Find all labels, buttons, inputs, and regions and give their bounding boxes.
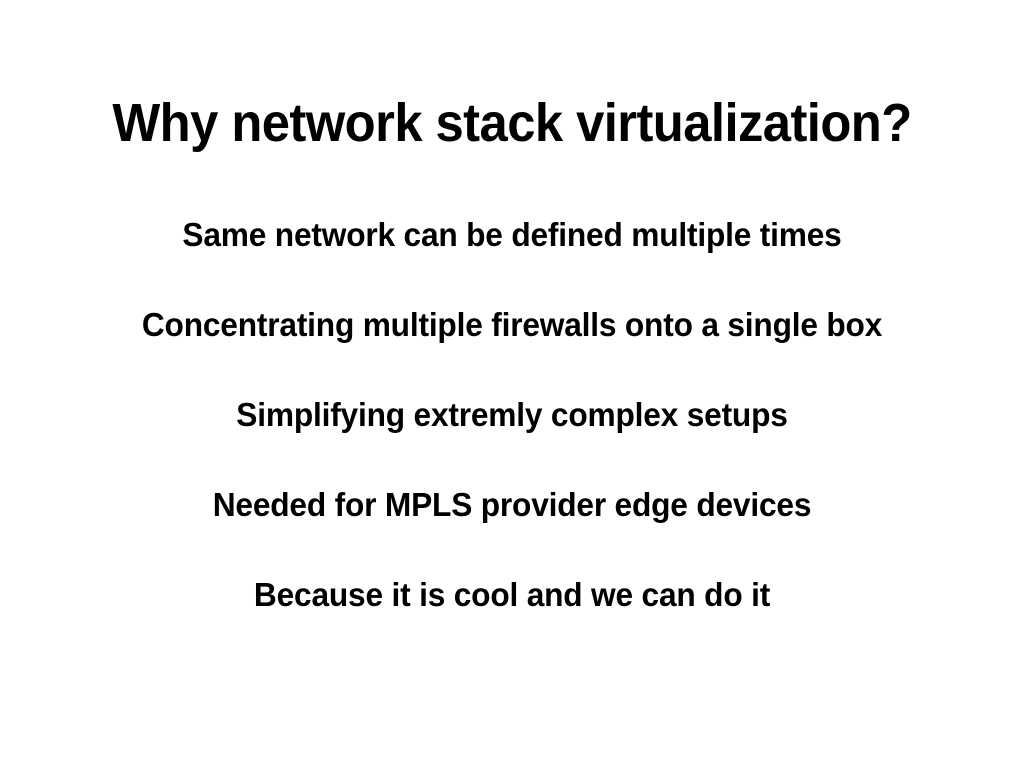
slide-body: Same network can be defined multiple tim…: [0, 213, 1024, 663]
slide-title: Why network stack virtualization?: [31, 92, 994, 154]
presentation-slide: Why network stack virtualization? Same n…: [0, 0, 1024, 768]
body-line-1: Same network can be defined multiple tim…: [20, 213, 1003, 303]
body-line-5: Because it is cool and we can do it: [20, 573, 1003, 663]
body-line-3: Simplifying extremly complex setups: [20, 393, 1003, 483]
body-line-2: Concentrating multiple firewalls onto a …: [20, 303, 1003, 393]
body-line-4: Needed for MPLS provider edge devices: [20, 483, 1003, 573]
